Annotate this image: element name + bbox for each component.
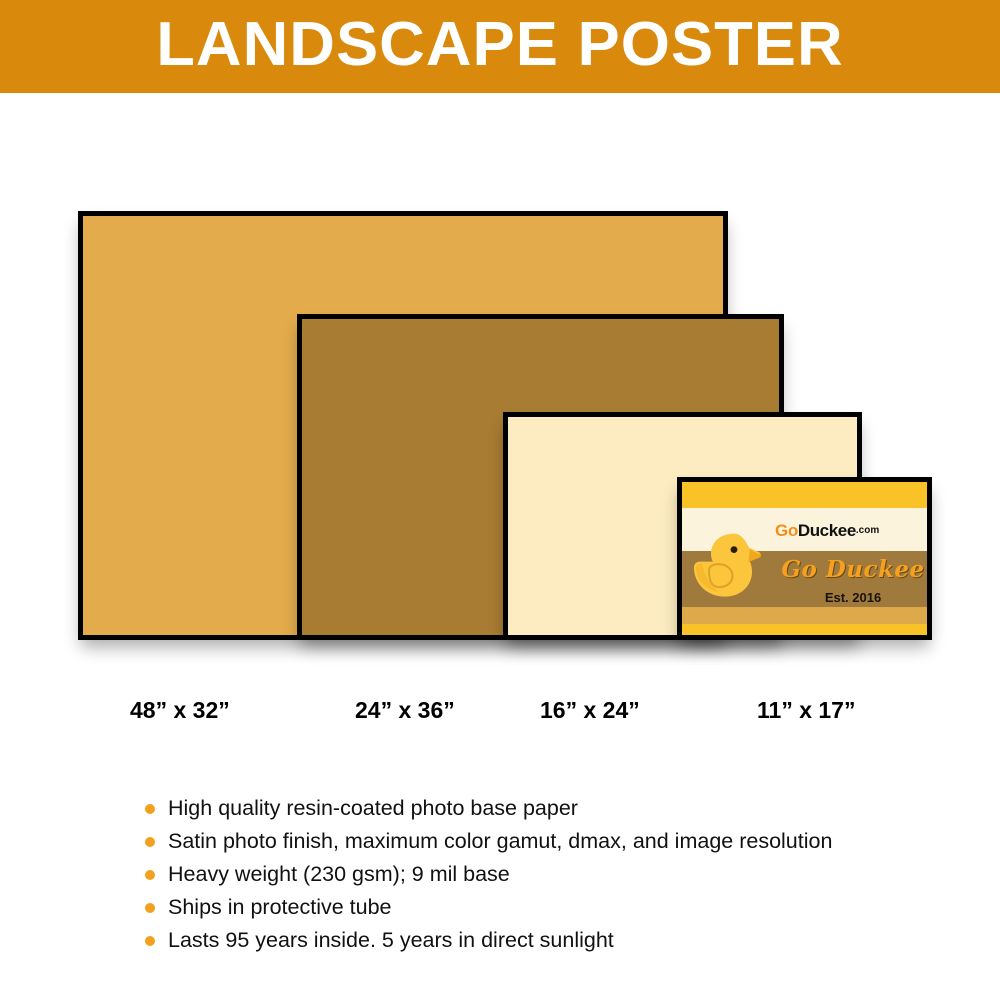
- logo-word-duckee: Duckee: [798, 522, 856, 539]
- logo-stripe-bottom-gold: [682, 624, 927, 635]
- logo-word-tld: .com: [856, 526, 879, 536]
- feature-text: Heavy weight (230 gsm); 9 mil base: [168, 861, 510, 888]
- list-item: Lasts 95 years inside. 5 years in direct…: [145, 927, 965, 954]
- size-label-11x17: 11” x 17”: [757, 690, 855, 730]
- rubber-duck-icon: [688, 508, 774, 621]
- goduckee-logo: GoDuckee.com Go Duckee Est. 2016: [682, 482, 927, 635]
- logo-wordmark: GoDuckee.com: [775, 511, 927, 551]
- logo-stripe-top-gold: [682, 482, 927, 508]
- feature-text: Lasts 95 years inside. 5 years in direct…: [168, 927, 614, 954]
- bullet-icon: [145, 936, 155, 946]
- poster-swatch-11x17: GoDuckee.com Go Duckee Est. 2016: [677, 477, 932, 640]
- size-label-24x36: 24” x 36”: [355, 690, 455, 730]
- bullet-icon: [145, 837, 155, 847]
- page-title: LANDSCAPE POSTER: [156, 14, 843, 80]
- poster-size-diagram: GoDuckee.com Go Duckee Est. 2016: [0, 93, 1000, 713]
- bullet-icon: [145, 870, 155, 880]
- list-item: Heavy weight (230 gsm); 9 mil base: [145, 861, 965, 888]
- list-item: Satin photo finish, maximum color gamut,…: [145, 828, 965, 855]
- size-label-48x32: 48” x 32”: [130, 690, 230, 730]
- logo-script-text: Go Duckee: [774, 551, 932, 588]
- header-bar: LANDSCAPE POSTER: [0, 0, 1000, 93]
- feature-text: Ships in protective tube: [168, 894, 392, 921]
- feature-text: Satin photo finish, maximum color gamut,…: [168, 828, 832, 855]
- list-item: Ships in protective tube: [145, 894, 965, 921]
- bullet-icon: [145, 903, 155, 913]
- feature-list: High quality resin-coated photo base pap…: [145, 795, 965, 960]
- bullet-icon: [145, 804, 155, 814]
- list-item: High quality resin-coated photo base pap…: [145, 795, 965, 822]
- logo-established: Est. 2016: [774, 588, 932, 608]
- size-label-row: 48” x 32” 24” x 36” 16” x 24” 11” x 17”: [0, 690, 1000, 730]
- feature-text: High quality resin-coated photo base pap…: [168, 795, 578, 822]
- size-label-16x24: 16” x 24”: [540, 690, 640, 730]
- logo-word-go: Go: [775, 522, 798, 539]
